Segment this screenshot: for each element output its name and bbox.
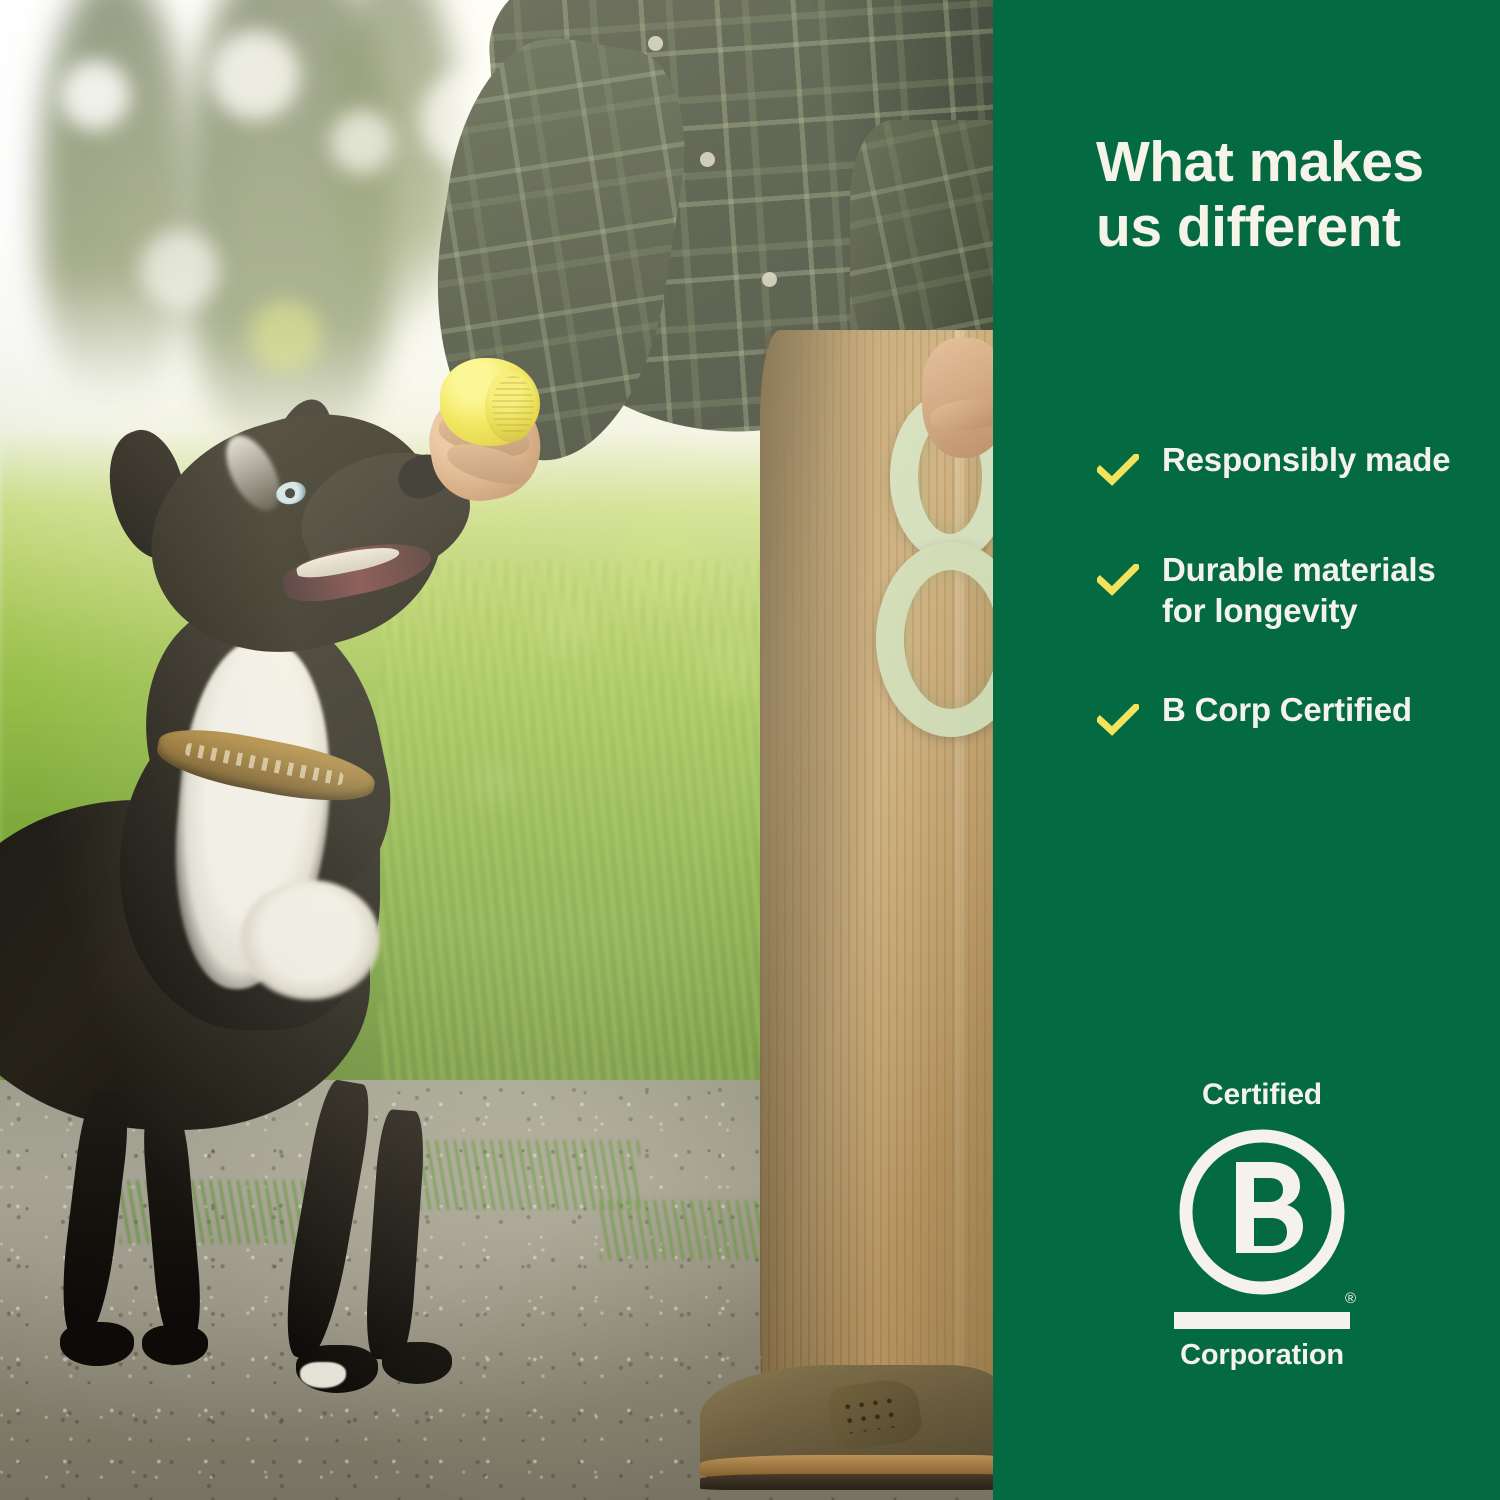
bcorp-circled-b-icon: ® (1174, 1124, 1350, 1300)
feature-item-b-corp-certified: B Corp Certified (1096, 690, 1496, 742)
hand-gripping-toy (922, 338, 993, 458)
feature-label: B Corp Certified (1162, 690, 1412, 731)
bcorp-certified-label: Certified (1162, 1078, 1362, 1112)
bokeh-highlight (250, 300, 322, 372)
bcorp-corporation-label: Corporation (1162, 1339, 1362, 1372)
dog-paw-marking (300, 1362, 346, 1388)
dog-paw (142, 1325, 208, 1365)
shirt-button (762, 272, 777, 287)
feature-label: Responsibly made (1162, 440, 1450, 481)
tug-toy-ring (876, 542, 993, 737)
pants-shadow (760, 330, 880, 1440)
feature-list: Responsibly made Durable materials for l… (1096, 440, 1496, 800)
check-icon (1096, 698, 1140, 742)
bokeh-highlight (330, 110, 394, 174)
shirt-button (648, 36, 663, 51)
feature-label: Durable materials for longevity (1162, 550, 1462, 632)
feature-item-durable-materials: Durable materials for longevity (1096, 550, 1496, 632)
dog-paw (382, 1342, 452, 1384)
boot-sole (700, 1474, 993, 1490)
marketing-image: What makes us different Responsibly made (0, 0, 1500, 1500)
dog-flank-marking (240, 880, 380, 1000)
green-info-panel: What makes us different Responsibly made (993, 0, 1500, 1500)
yellow-ball-ridges (492, 376, 534, 436)
bokeh-highlight (140, 230, 220, 310)
dog-paw (60, 1322, 134, 1366)
grass-tuft (600, 1200, 780, 1260)
bokeh-highlight (60, 60, 130, 130)
bokeh-highlight (210, 30, 300, 120)
check-icon (1096, 558, 1140, 602)
product-lifestyle-photo (0, 0, 993, 1500)
check-icon (1096, 448, 1140, 492)
blurred-tree (40, 0, 190, 400)
b-corp-certification-logo: Certified ® Corporation (1162, 1078, 1362, 1372)
page-title: What makes us different (1096, 130, 1496, 260)
feature-item-responsibly-made: Responsibly made (1096, 440, 1496, 492)
shirt-button (700, 152, 715, 167)
bcorp-divider-bar (1174, 1312, 1350, 1329)
registered-trademark-icon: ® (1345, 1291, 1356, 1306)
